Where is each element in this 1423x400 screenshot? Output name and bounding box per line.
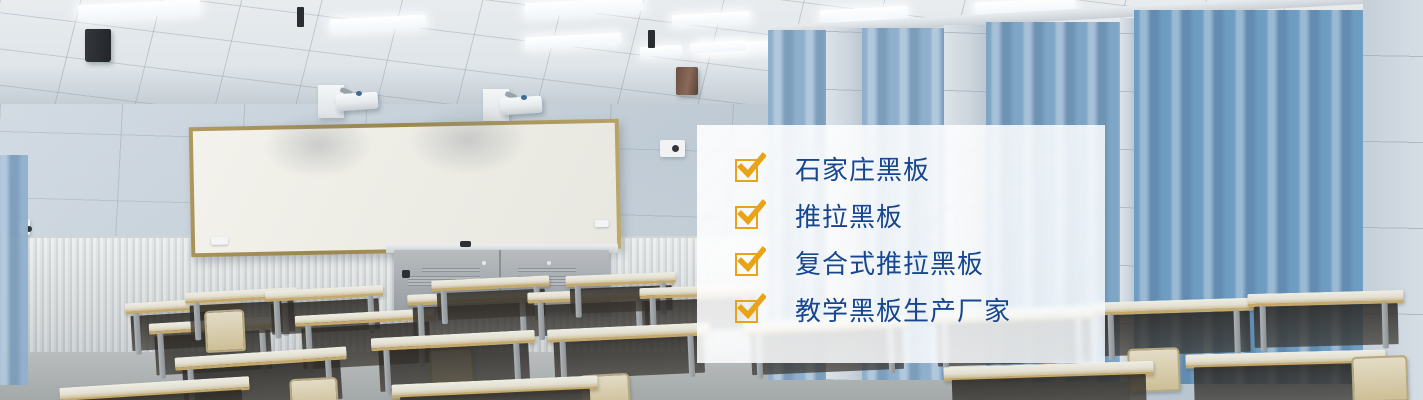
check-box-icon	[735, 298, 762, 325]
list-item[interactable]: 教学黑板生产厂家	[735, 288, 1105, 335]
whiteboard-reflection	[262, 110, 373, 180]
desk-front	[1254, 303, 1399, 348]
desk-leg	[1382, 302, 1389, 348]
cabinet-knob[interactable]	[482, 261, 486, 265]
ceiling-sensor	[648, 30, 655, 48]
keyword-list: 石家庄黑板 推拉黑板 复合式推拉黑板	[697, 125, 1105, 363]
cabinet-vent	[422, 268, 480, 272]
whiteboard-magnet	[595, 220, 609, 227]
list-item-label: 教学黑板生产厂家	[795, 299, 1011, 325]
student-chair	[204, 309, 246, 353]
list-item-label: 复合式推拉黑板	[795, 252, 984, 278]
wall-sensor-lens	[672, 145, 679, 152]
cabinet-knob[interactable]	[547, 261, 551, 265]
whiteboard	[189, 119, 622, 258]
classroom-banner: 石家庄黑板 推拉黑板 复合式推拉黑板	[0, 0, 1423, 400]
wall-speaker	[676, 67, 698, 95]
list-item-label: 石家庄黑板	[795, 158, 930, 184]
student-desk	[1247, 290, 1404, 348]
list-item[interactable]: 复合式推拉黑板	[735, 241, 1105, 288]
ceiling-sensor	[297, 7, 304, 27]
desk-front	[554, 336, 705, 380]
list-item[interactable]: 石家庄黑板	[735, 147, 1105, 194]
projector-lens	[521, 95, 527, 100]
desk-leg	[575, 286, 582, 318]
whiteboard-surface	[193, 123, 617, 253]
check-box-icon	[735, 157, 762, 184]
check-box-icon	[735, 204, 762, 231]
check-box-icon	[735, 251, 762, 278]
window-curtain	[0, 155, 28, 385]
student-chair	[1351, 355, 1409, 400]
desk-leg	[1260, 306, 1267, 352]
cabinet-vent	[518, 268, 576, 272]
student-desk	[943, 361, 1154, 400]
product-keyword-panel: 石家庄黑板 推拉黑板 复合式推拉黑板	[697, 125, 1105, 363]
wall-speaker	[85, 29, 111, 62]
projector-lens	[356, 91, 362, 96]
whiteboard-reflection	[407, 103, 528, 177]
student-chair	[289, 377, 339, 400]
list-item-label: 推拉黑板	[795, 205, 903, 231]
cabinet-camera	[460, 241, 471, 247]
cabinet-switch[interactable]	[402, 270, 410, 278]
student-desk	[547, 322, 711, 379]
whiteboard-magnet	[211, 237, 228, 245]
list-item[interactable]: 推拉黑板	[735, 194, 1105, 241]
